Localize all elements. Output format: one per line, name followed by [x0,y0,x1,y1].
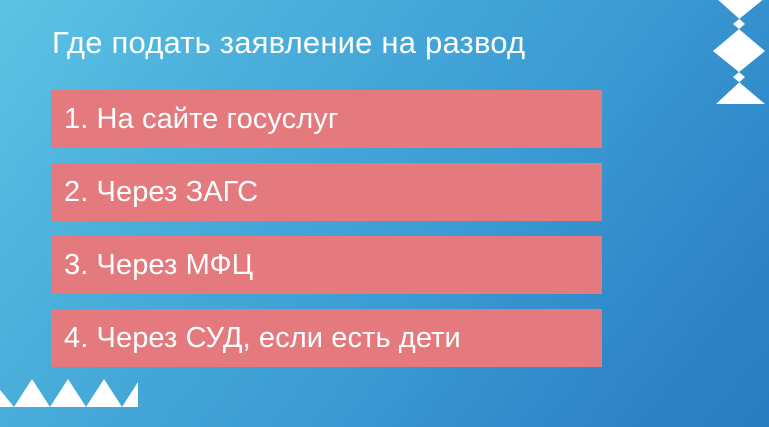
list-item-label: 4. Через СУД, если есть дети [51,321,461,355]
list-item-label: 3. Через МФЦ [51,248,253,282]
slide-canvas: Где подать заявление на развод 1. На сай… [0,0,769,427]
options-list: 1. На сайте госуслуг 2. Через ЗАГС 3. Че… [51,90,602,367]
zigzag-bottom-icon [0,375,138,407]
list-item: 4. Через СУД, если есть дети [51,309,602,367]
list-item: 2. Через ЗАГС [51,163,602,221]
list-item: 3. Через МФЦ [51,236,602,294]
list-item-label: 2. Через ЗАГС [51,175,258,209]
list-item-label: 1. На сайте госуслуг [51,102,339,136]
list-item: 1. На сайте госуслуг [51,90,602,148]
page-title: Где подать заявление на развод [52,23,692,63]
zigzag-right-icon [713,0,765,104]
